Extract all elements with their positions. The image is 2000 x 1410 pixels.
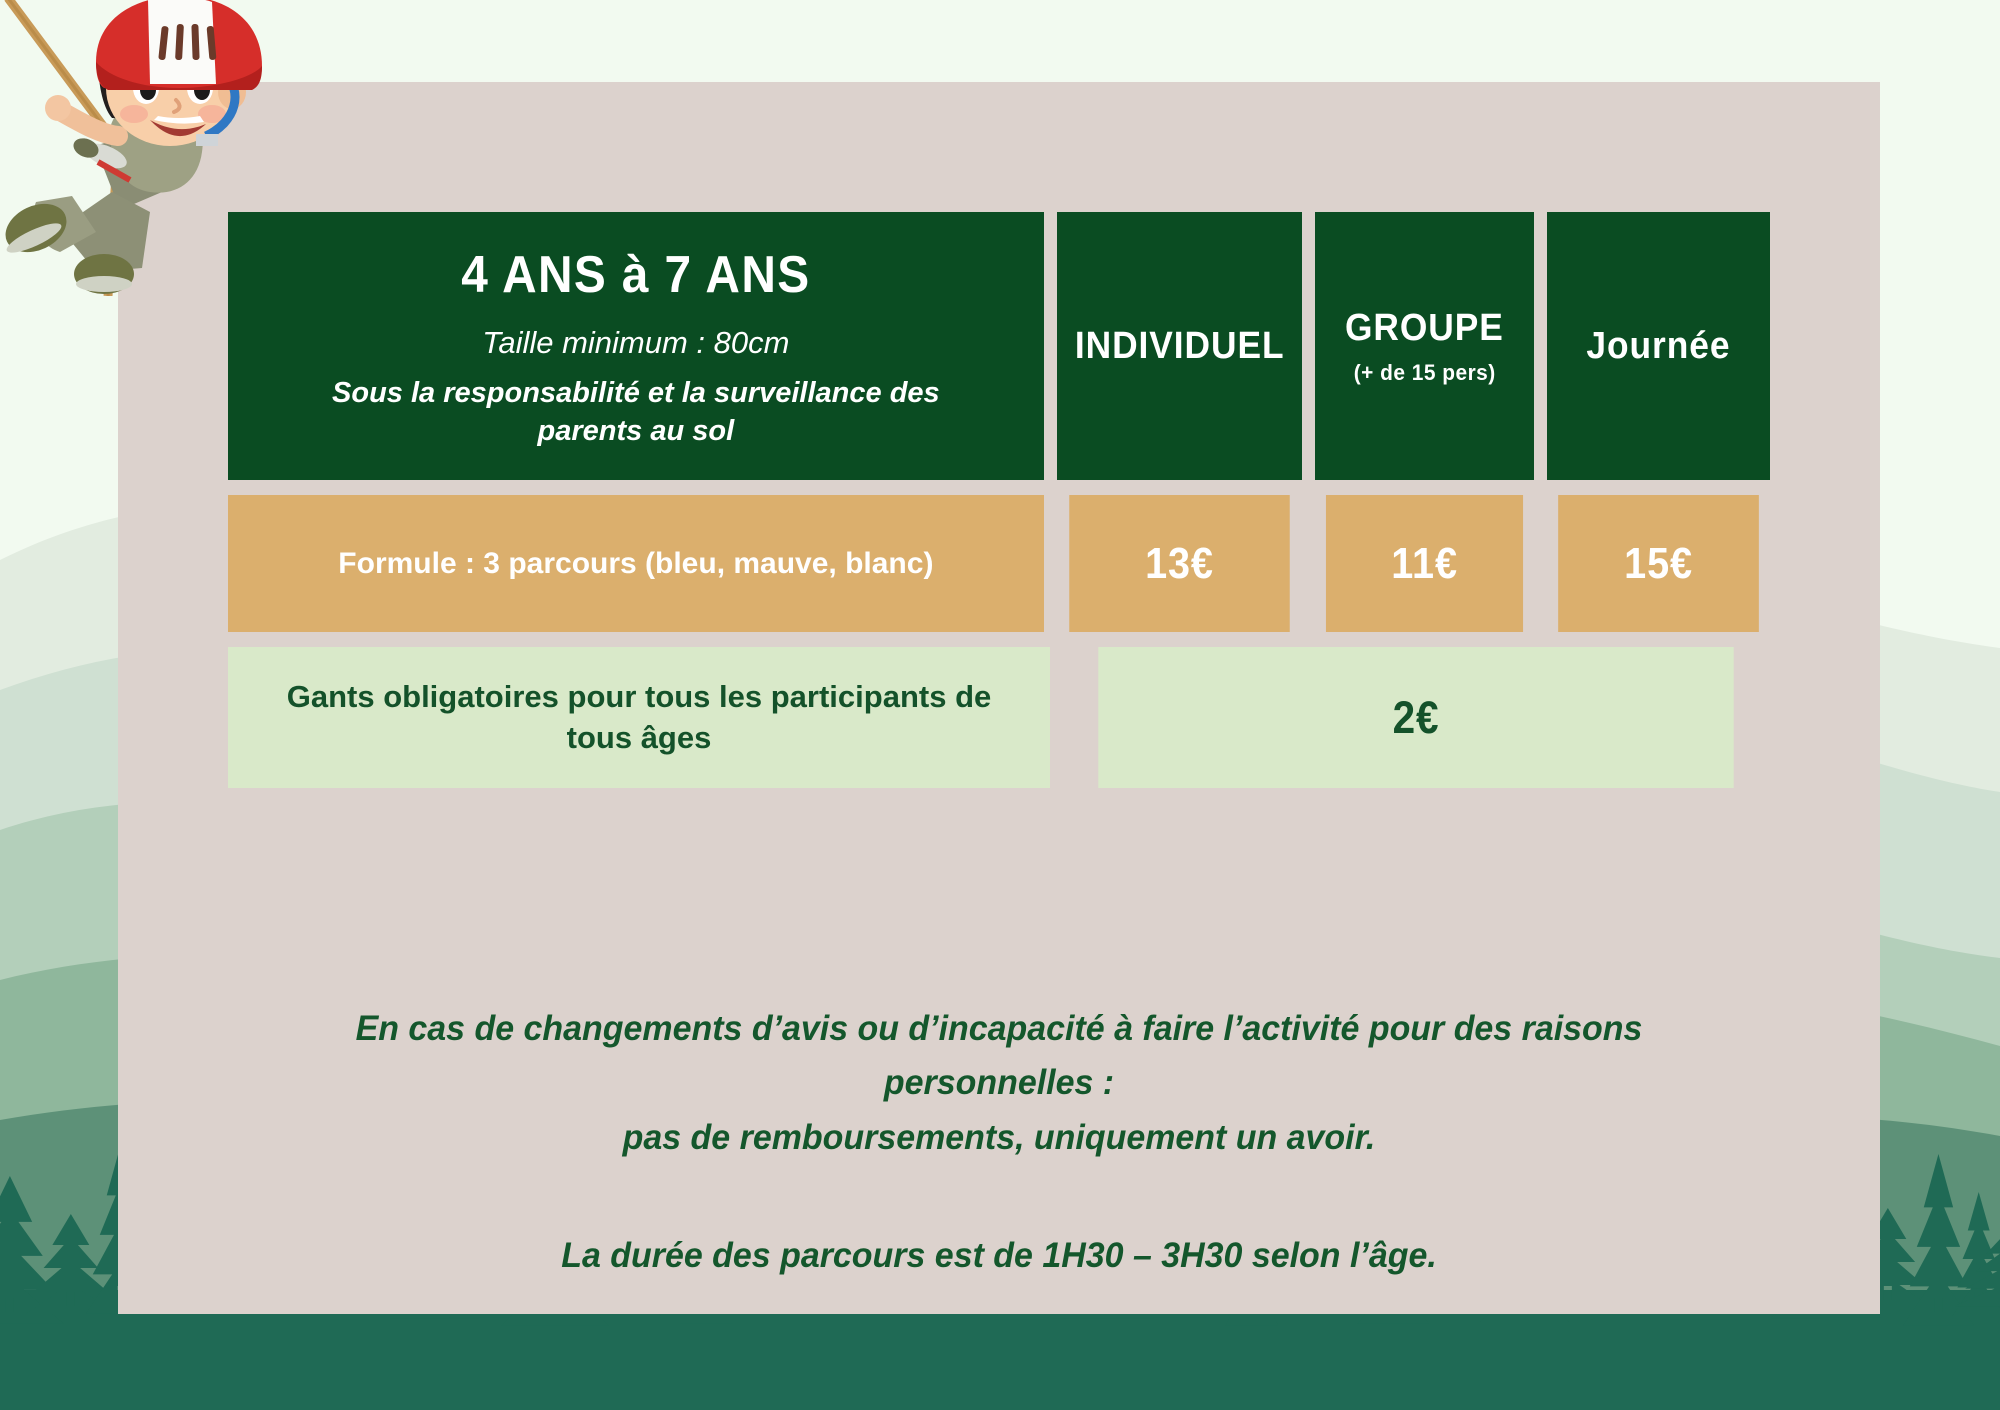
- note-line-1: En cas de changements d’avis ou d’incapa…: [251, 1002, 1747, 1111]
- notes-section: En cas de changements d’avis ou d’incapa…: [228, 1002, 1770, 1283]
- column-header-journee: Journée: [1547, 212, 1770, 480]
- table-header-row: 4 ANS à 7 ANS Taille minimum : 80cm Sous…: [228, 212, 1770, 480]
- price-journee: 15€: [1558, 495, 1759, 632]
- column-header-individuel: INDIVIDUEL: [1057, 212, 1302, 480]
- table-row: Gants obligatoires pour tous les partici…: [228, 647, 1770, 788]
- age-note: Sous la responsabilité et la surveillanc…: [258, 375, 1014, 450]
- column-header-groupe-label: GROUPE: [1345, 307, 1504, 350]
- formula-label: Formule : 3 parcours (bleu, mauve, blanc…: [228, 495, 1044, 632]
- pricing-table: 4 ANS à 7 ANS Taille minimum : 80cm Sous…: [228, 212, 1770, 788]
- climbing-boy-mascot: [0, 0, 270, 296]
- gloves-price: 2€: [1098, 647, 1733, 788]
- note-spacer: [228, 1165, 1770, 1229]
- column-header-individuel-label: INDIVIDUEL: [1074, 325, 1284, 368]
- table-row: Formule : 3 parcours (bleu, mauve, blanc…: [228, 495, 1770, 632]
- price-groupe: 11€: [1326, 495, 1523, 632]
- age-header-cell: 4 ANS à 7 ANS Taille minimum : 80cm Sous…: [228, 212, 1044, 480]
- note-line-2: pas de remboursements, uniquement un avo…: [251, 1111, 1747, 1165]
- age-subtitle: Taille minimum : 80cm: [482, 324, 789, 363]
- column-header-groupe-sublabel: (+ de 15 pers): [1353, 360, 1495, 386]
- gloves-label: Gants obligatoires pour tous les partici…: [228, 647, 1050, 788]
- column-header-groupe: GROUPE (+ de 15 pers): [1315, 212, 1534, 480]
- age-title: 4 ANS à 7 ANS: [461, 248, 810, 303]
- column-header-journee-label: Journée: [1586, 325, 1730, 368]
- price-individuel: 13€: [1069, 495, 1289, 632]
- note-line-3: La durée des parcours est de 1H30 – 3H30…: [251, 1229, 1747, 1283]
